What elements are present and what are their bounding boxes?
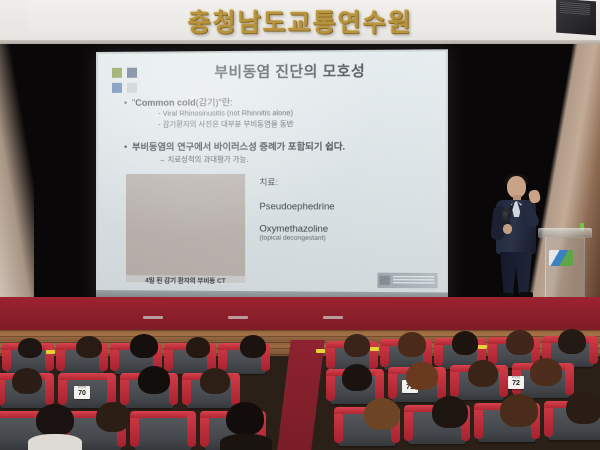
bullet-marker-2: • xyxy=(124,142,132,152)
slide-title: 부비동염 진단의 모호성 xyxy=(150,60,431,83)
audience-head xyxy=(36,404,74,436)
ct-scan-caption: 4일 된 감기 환자의 부비동 CT xyxy=(126,275,245,285)
audience-head xyxy=(186,337,210,358)
audience-head xyxy=(558,329,586,354)
slide-footer-logo xyxy=(377,273,437,289)
presenter-hand-right xyxy=(528,189,541,204)
seat[interactable] xyxy=(134,416,192,450)
audience-head xyxy=(566,392,600,424)
deco-square-blue xyxy=(112,83,122,93)
audience-shoulders xyxy=(28,434,82,450)
audience-head xyxy=(96,402,130,432)
lecture-hall-scene: 충청남도교통연수원 부비동염 진단의 모호성 •"Common cold(감기)… xyxy=(0,0,600,450)
seat-yellow-tag xyxy=(478,345,487,349)
audience-head xyxy=(452,331,478,355)
projection-screen: 부비동염 진단의 모호성 •"Common cold(감기)"란: - Vira… xyxy=(96,49,448,304)
audience-head xyxy=(226,402,264,435)
seat-yellow-tag xyxy=(316,349,325,353)
audience-head xyxy=(12,368,42,394)
audience-seating: 좌석번호70 좌석번호71 좌석번호72 xyxy=(0,340,600,450)
audience-head xyxy=(406,362,438,390)
bullet1-sub-2: - 감기환자의 사진은 대부분 부비동염을 동반 xyxy=(158,118,435,130)
treatment-label: 치료: xyxy=(259,176,278,188)
audience-head xyxy=(530,358,562,386)
seat-number-tag: 좌석번호70 xyxy=(74,386,90,399)
venue-name-sign: 충청남도교통연수원 xyxy=(140,2,460,40)
bullet2-text: 부비동염의 연구에서 바이러스성 증례가 포함되기 쉽다. xyxy=(132,142,345,152)
deco-square-green xyxy=(112,68,122,78)
bullet1-paren: (감기) xyxy=(196,97,219,107)
audience-head xyxy=(398,332,426,357)
audience-head xyxy=(200,368,230,394)
seat-headrest xyxy=(58,373,116,380)
drug-name-2: Oxymethazoline xyxy=(259,222,328,233)
audience-head xyxy=(344,334,370,357)
ct-scan-graphic xyxy=(126,174,245,283)
floor-vent-1 xyxy=(143,316,163,319)
floor-vent-2 xyxy=(228,316,248,319)
seat-yellow-tag xyxy=(370,347,379,351)
seat-headrest xyxy=(130,411,196,418)
presenter-hand-left xyxy=(503,224,512,234)
audience-head xyxy=(432,396,468,428)
stage-left-wall xyxy=(0,44,34,302)
lectern-body xyxy=(545,237,585,300)
audience-head xyxy=(138,366,170,394)
seat-number: 70 xyxy=(78,390,86,397)
bullet1-bold: Common cold xyxy=(135,98,195,108)
audience-head xyxy=(468,360,498,387)
ct-scan-image: 4일 된 감기 환자의 부비동 CT xyxy=(126,174,245,283)
seat-yellow-tag xyxy=(46,350,55,354)
bullet-item-2: •부비동염의 연구에서 바이러스성 증례가 포함되기 쉽다. xyxy=(124,138,435,153)
wall-speaker-icon xyxy=(556,0,596,35)
presenter-trousers xyxy=(500,252,532,296)
audience-shoulders xyxy=(220,434,272,450)
seat-number: 72 xyxy=(512,380,520,387)
stage-floor xyxy=(0,297,600,332)
bullet2-sub: → 치료성적의 과대평가 가능. xyxy=(158,155,435,165)
audience-head xyxy=(240,335,266,358)
audience-head xyxy=(506,330,534,355)
bullet-marker: • xyxy=(124,98,132,108)
slide-bullet-list: •"Common cold(감기)"란: - Viral Rhinosinusi… xyxy=(116,94,435,165)
drug-name-1: Pseudoephedrine xyxy=(259,200,334,211)
speaker-grille xyxy=(560,2,590,16)
presenter xyxy=(487,176,545,304)
audience-head xyxy=(130,334,158,358)
deco-square-slate xyxy=(127,68,137,78)
presentation-slide: 부비동염 진단의 모호성 •"Common cold(감기)"란: - Vira… xyxy=(98,51,446,292)
seat-number-tag: 좌석번호72 xyxy=(508,376,524,389)
audience-head xyxy=(18,338,42,358)
audience-head xyxy=(76,336,102,358)
audience-head xyxy=(364,398,400,430)
lectern xyxy=(538,228,592,304)
drug-2-note: (topical decongestant) xyxy=(259,235,325,242)
center-aisle xyxy=(277,340,325,450)
lectern-emblem xyxy=(549,250,573,266)
bullet-item-1: •"Common cold(감기)"란: xyxy=(124,94,435,109)
audience-head xyxy=(500,394,538,427)
slide-decoration-squares xyxy=(112,68,142,96)
audience-head xyxy=(342,364,372,391)
floor-vent-3 xyxy=(323,316,343,319)
bullet1-tail: "란: xyxy=(219,97,233,107)
deco-square-gray xyxy=(127,83,137,93)
